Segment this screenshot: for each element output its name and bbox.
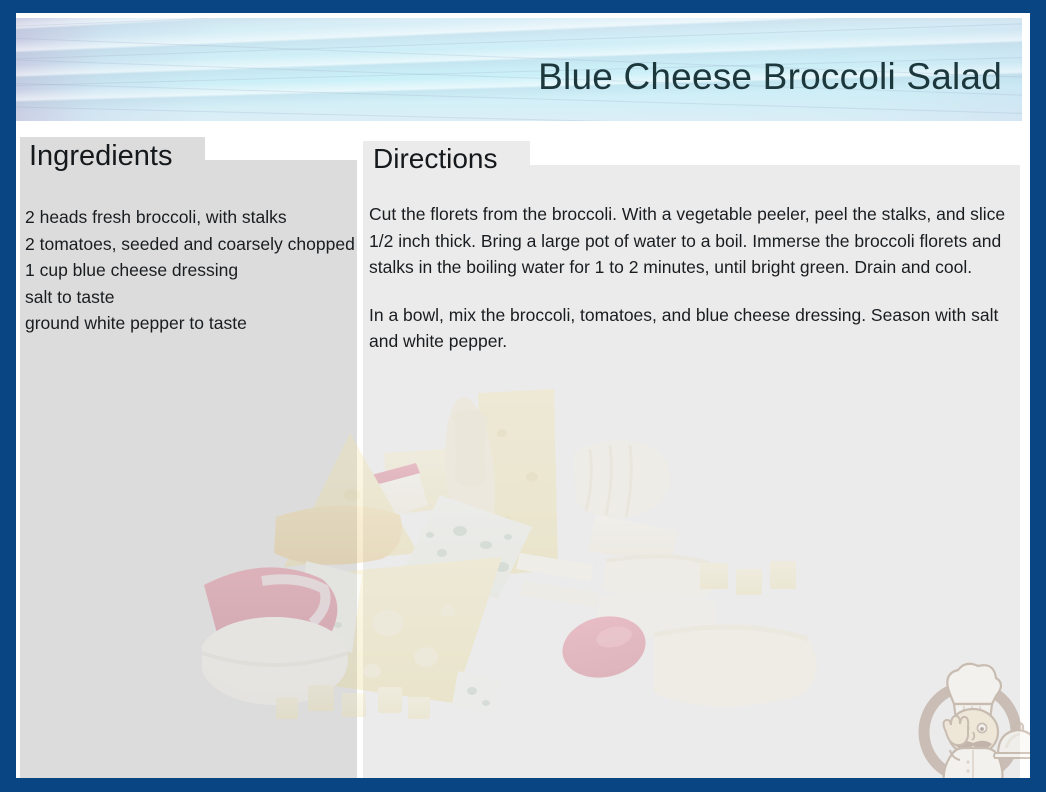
- ingredient-item: salt to taste: [25, 284, 355, 311]
- slide-page: Blue Cheese Broccoli Salad Ingredients 2…: [16, 13, 1030, 778]
- ingredients-list: 2 heads fresh broccoli, with stalks 2 to…: [25, 204, 355, 337]
- ingredient-item: 2 heads fresh broccoli, with stalks: [25, 204, 355, 231]
- chef-mascot-logo: [906, 658, 1030, 778]
- ingredient-item: ground white pepper to taste: [25, 310, 355, 337]
- recipe-slide: Blue Cheese Broccoli Salad Ingredients 2…: [0, 0, 1046, 792]
- ingredients-heading: Ingredients: [29, 139, 173, 173]
- ingredient-item: 2 tomatoes, seeded and coarsely chopped: [25, 231, 355, 258]
- ingredient-item: 1 cup blue cheese dressing: [25, 257, 355, 284]
- directions-heading: Directions: [373, 142, 497, 175]
- directions-paragraph: Cut the florets from the broccoli. With …: [369, 201, 1015, 281]
- header-banner: Blue Cheese Broccoli Salad: [16, 18, 1022, 121]
- page-title: Blue Cheese Broccoli Salad: [538, 55, 1002, 99]
- directions-body: Cut the florets from the broccoli. With …: [369, 201, 1015, 355]
- directions-paragraph: In a bowl, mix the broccoli, tomatoes, a…: [369, 302, 1015, 355]
